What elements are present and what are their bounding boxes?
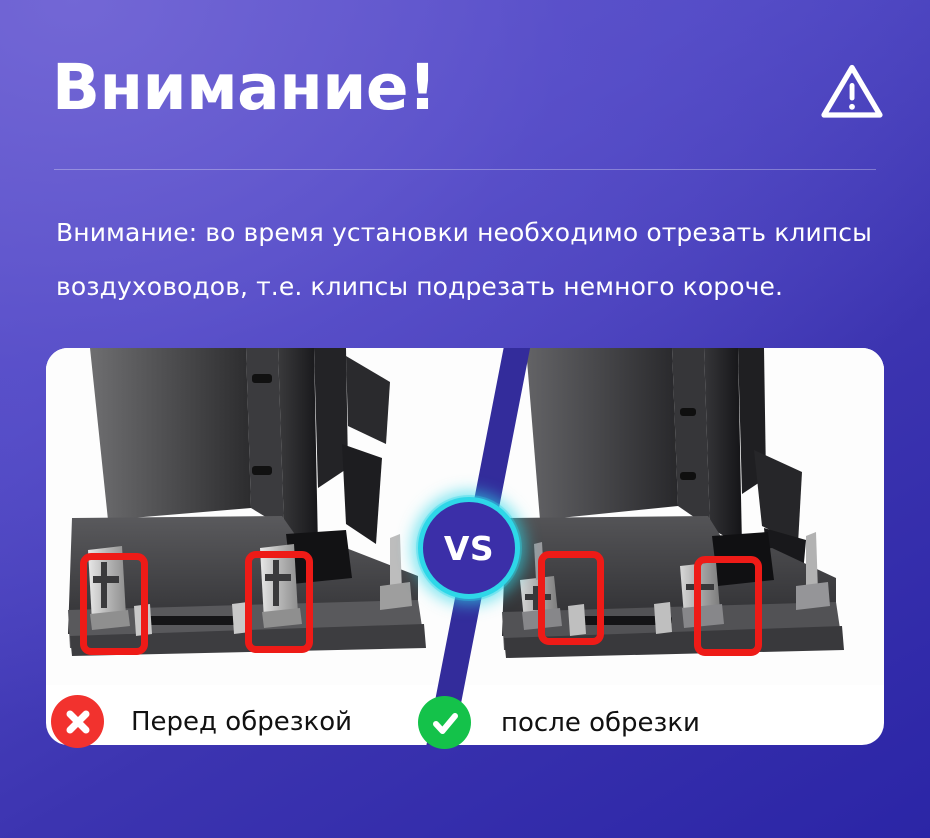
notice-text: Внимание: во время установки необходимо … bbox=[56, 206, 880, 314]
clip-highlight-after-left bbox=[538, 551, 604, 645]
cross-icon bbox=[51, 695, 104, 748]
vs-badge: VS bbox=[418, 497, 520, 599]
clip-highlight-after-right bbox=[694, 556, 762, 656]
clip-highlight-before-left bbox=[80, 553, 148, 655]
caption-after: после обрезки bbox=[418, 696, 700, 749]
promo-banner: Внимание! Внимание: во время установки н… bbox=[0, 0, 930, 838]
caption-after-label: после обрезки bbox=[501, 708, 700, 738]
notice-line-1: Внимание: во время установки необходимо … bbox=[56, 206, 880, 260]
vs-label: VS bbox=[444, 529, 494, 568]
warning-triangle-icon bbox=[820, 62, 884, 122]
banner-header: Внимание! bbox=[0, 0, 930, 176]
check-icon bbox=[418, 696, 471, 749]
caption-before: Перед обрезкой bbox=[51, 695, 352, 748]
caption-before-label: Перед обрезкой bbox=[131, 707, 352, 737]
page-title: Внимание! bbox=[52, 52, 436, 124]
notice-line-2: воздуховодов, т.е. клипсы подрезать немн… bbox=[56, 260, 880, 314]
clip-highlight-before-right bbox=[245, 551, 313, 653]
header-divider bbox=[54, 169, 876, 170]
